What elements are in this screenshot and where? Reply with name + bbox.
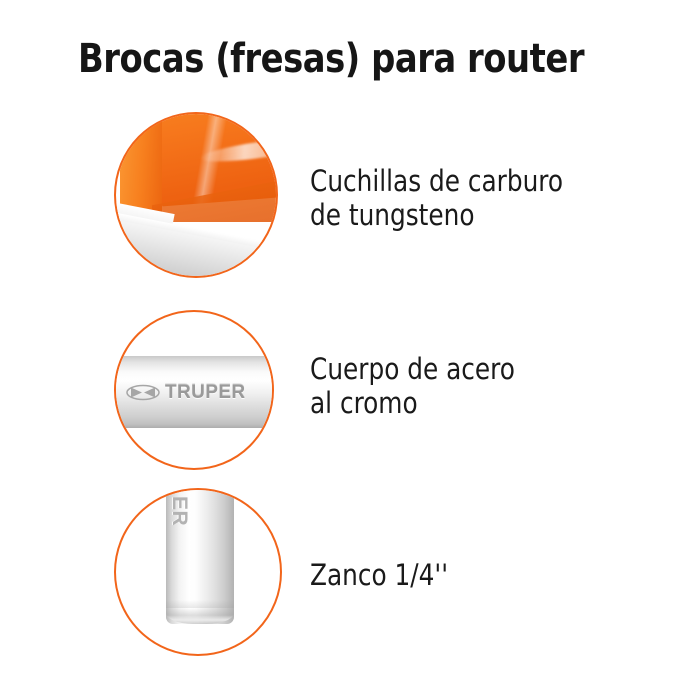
feature-row-chrome-steel-body: TRUPER Cuerpo de acero al cromo — [0, 308, 700, 473]
partial-brand-engraving-text: ER — [169, 496, 190, 526]
chrome-shank-bottom-shadow — [166, 600, 234, 608]
chrome-shank-end-shadow — [272, 356, 274, 428]
truper-bowtie-logo-icon — [126, 384, 160, 401]
brand-name-text: TRUPER — [165, 383, 246, 402]
chrome-shank-end-closeup-icon: ER — [116, 490, 280, 654]
badge-circle-chrome-steel-body: TRUPER — [114, 310, 274, 470]
feature-label-shank-size: Zanco 1/4'' — [310, 558, 448, 592]
chrome-shank-with-brand-closeup-icon: TRUPER — [116, 312, 272, 468]
brand-engraving: TRUPER — [126, 380, 262, 404]
feature-label-chrome-steel-body: Cuerpo de acero al cromo — [310, 352, 515, 420]
feature-row-carbide-blades: Cuchillas de carburo de tungsteno — [0, 110, 700, 285]
product-infographic: Brocas (fresas) para router Cuchillas de… — [0, 0, 700, 700]
feature-label-carbide-blades: Cuchillas de carburo de tungsteno — [310, 164, 563, 232]
router-bit-carbide-blade-closeup-icon — [116, 114, 276, 276]
feature-row-shank-size: ER Zanco 1/4'' — [0, 484, 700, 659]
badge-circle-shank-size: ER — [114, 488, 282, 656]
router-bit-orange-facet — [120, 112, 162, 219]
badge-circle-carbide-blades — [114, 112, 278, 278]
page-title: Brocas (fresas) para router — [78, 36, 623, 82]
